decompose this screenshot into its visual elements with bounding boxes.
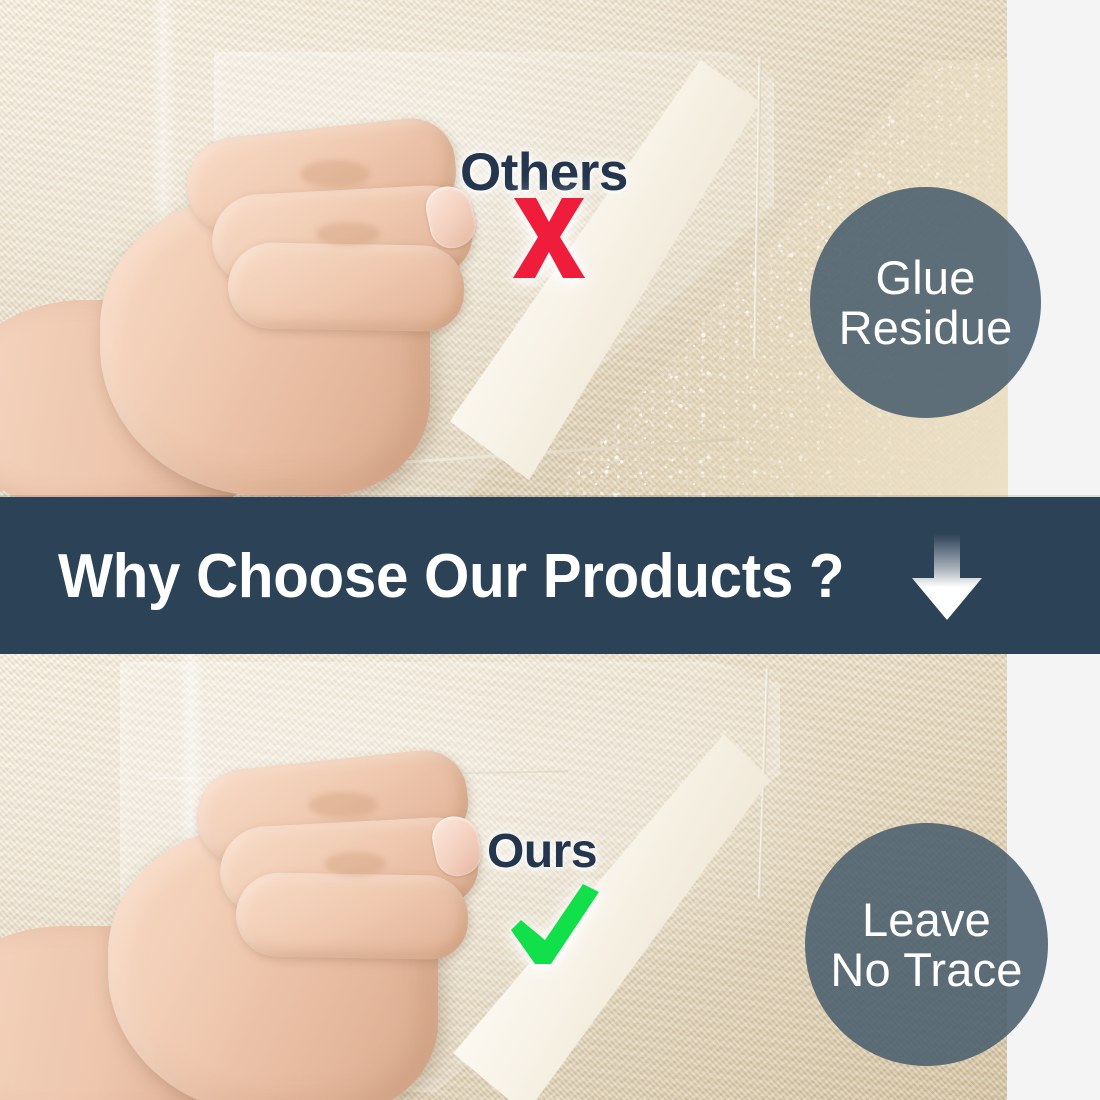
why-choose-banner: Why Choose Our Products ?	[0, 497, 1100, 656]
leave-no-trace-badge-line1: Leave	[830, 895, 1022, 945]
leave-no-trace-badge-line2: No Trace	[830, 945, 1022, 995]
cross-mark-icon	[506, 196, 592, 280]
ours-label: Ours	[487, 828, 597, 876]
glue-residue-badge: Glue Residue	[810, 187, 1041, 418]
infographic-stage: Others Glue Residue Why Choose Our Produ…	[0, 0, 1100, 1100]
thumb-bottom	[235, 872, 468, 960]
knuckle-crease-bottom	[308, 792, 378, 818]
banner-title: Why Choose Our Products ?	[58, 541, 844, 612]
glue-residue-badge-line1: Glue	[839, 253, 1013, 303]
knuckle-crease-top	[300, 160, 370, 188]
leave-no-trace-badge: Leave No Trace	[805, 823, 1048, 1066]
knuckle-crease2-bottom	[324, 852, 386, 876]
thumb-top	[227, 242, 464, 332]
check-mark-icon	[505, 880, 605, 968]
knuckle-crease2-top	[316, 222, 380, 246]
others-label: Others	[460, 146, 628, 199]
others-comparison-photo: Others Glue Residue	[0, 0, 1100, 500]
glue-residue-badge-line2: Residue	[839, 303, 1013, 353]
arrow-down-icon	[910, 534, 984, 620]
